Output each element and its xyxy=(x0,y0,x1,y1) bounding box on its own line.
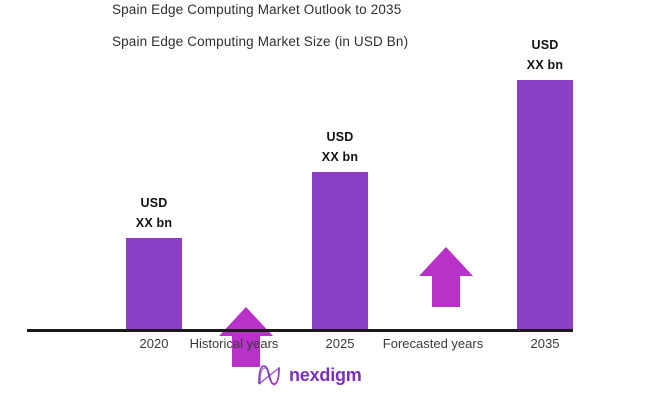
nexdigm-wordmark: nexdigm xyxy=(289,365,362,385)
bar-value-label-line2: XX bn xyxy=(282,147,398,167)
bar-value-label-2035: USDXX bn xyxy=(487,35,603,75)
bar-value-label-line1: USD xyxy=(282,127,398,147)
bar-value-label-line2: XX bn xyxy=(96,213,212,233)
chart-canvas: Spain Edge Computing Market Outlook to 2… xyxy=(0,0,667,407)
x-axis-line xyxy=(27,329,573,332)
chart-subtitle: Spain Edge Computing Market Size (in USD… xyxy=(112,34,408,49)
bar-value-label-line1: USD xyxy=(487,35,603,55)
nexdigm-n-mark-icon xyxy=(256,364,282,386)
bar-2035 xyxy=(517,80,573,329)
x-axis-label-2035: 2035 xyxy=(465,334,625,354)
x-axis-labels: 2020Historical years2025Forecasted years… xyxy=(0,334,667,356)
forecast-growth-arrow-icon xyxy=(418,246,474,308)
bar-2025 xyxy=(312,172,368,329)
bar-2020 xyxy=(126,238,182,329)
chart-title: Spain Edge Computing Market Outlook to 2… xyxy=(112,2,401,17)
plot-area: USDXX bnUSDXX bnUSDXX bn xyxy=(0,60,667,330)
bar-value-label-2020: USDXX bn xyxy=(96,193,212,233)
bar-value-label-line1: USD xyxy=(96,193,212,213)
bar-value-label-line2: XX bn xyxy=(487,55,603,75)
nexdigm-logo: nexdigm xyxy=(256,364,362,386)
bar-value-label-2025: USDXX bn xyxy=(282,127,398,167)
